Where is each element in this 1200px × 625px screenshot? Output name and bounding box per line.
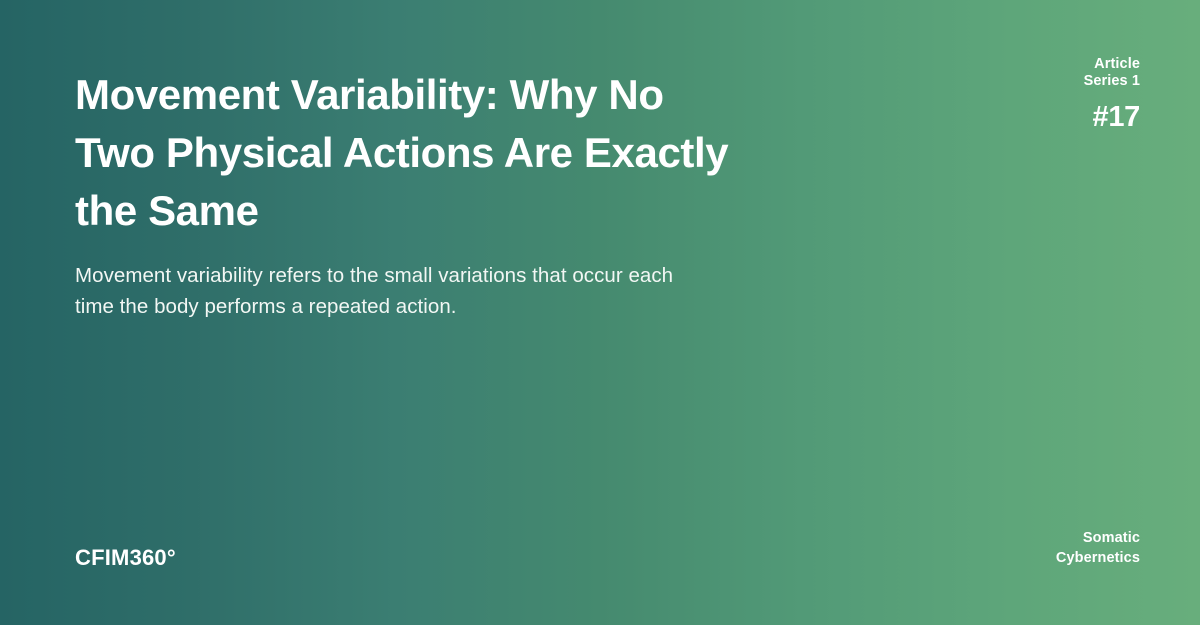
- footer-right: Somatic Cybernetics: [1056, 528, 1140, 568]
- headline-block: Movement Variability: Why No Two Physica…: [75, 66, 735, 322]
- article-cover-card: Article Series 1 #17 Movement Variabilit…: [0, 0, 1200, 625]
- brand-logo: CFIM360°: [75, 546, 176, 570]
- subtitle-deck: Movement variability refers to the small…: [75, 260, 675, 322]
- series-number: #17: [1084, 102, 1140, 132]
- topic-label: Somatic Cybernetics: [1056, 528, 1140, 568]
- series-label: Article Series 1: [1084, 56, 1140, 90]
- series-badge: Article Series 1 #17: [1084, 56, 1140, 132]
- footer-left: CFIM360°: [75, 546, 176, 570]
- page-title: Movement Variability: Why No Two Physica…: [75, 66, 735, 240]
